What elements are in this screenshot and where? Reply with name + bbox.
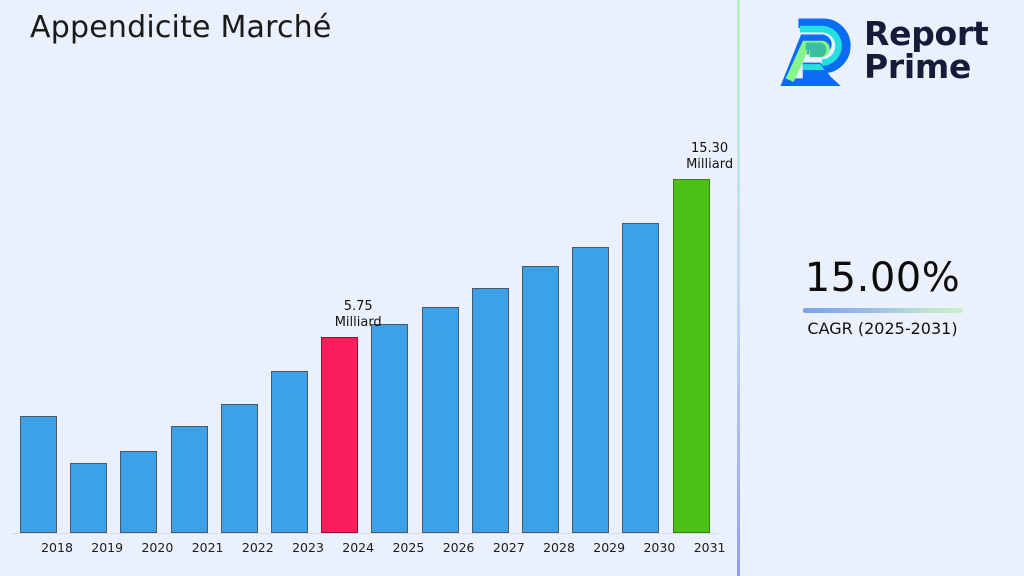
x-axis-line (12, 533, 718, 534)
brand-name-line2: Prime (864, 50, 988, 83)
bar-chart: 2018201920202021202220232024202520262027… (0, 0, 738, 576)
brand-logo: Report Prime (778, 13, 988, 86)
report-prime-r-logo-icon (778, 13, 851, 86)
bar-label-value: 5.75 (303, 299, 413, 315)
bar-label-2024: 5.75Milliard (303, 299, 413, 331)
cagr-block: 15.00% CAGR (2025-2031) (741, 254, 1024, 340)
slide-canvas: Appendicite Marché 201820192020202120222… (0, 0, 1024, 576)
bar-2031[interactable] (673, 179, 710, 533)
bar-2029[interactable] (572, 247, 609, 533)
bar-2020[interactable] (120, 451, 157, 533)
right-panel: Report Prime 15.00% CAGR (2025-2031) (741, 0, 1024, 576)
brand-name-line1: Report (864, 17, 988, 50)
bar-2023[interactable] (271, 371, 308, 533)
cagr-caption: CAGR (2025-2031) (741, 318, 1024, 340)
cagr-value: 15.00% (741, 254, 1024, 302)
brand-name: Report Prime (864, 17, 988, 83)
bar-2027[interactable] (472, 288, 509, 533)
bar-label-unit: Milliard (303, 315, 413, 331)
bar-2028[interactable] (522, 266, 559, 533)
bar-2018[interactable] (20, 416, 57, 533)
bar-2026[interactable] (422, 307, 459, 533)
bar-2025[interactable] (371, 324, 408, 533)
bar-2024[interactable] (321, 337, 358, 533)
bar-2021[interactable] (171, 426, 208, 533)
bar-2022[interactable] (221, 404, 258, 533)
panel-divider (737, 0, 740, 576)
cagr-divider-rule (803, 308, 963, 313)
bar-2030[interactable] (622, 223, 659, 533)
x-tick-2031: 2031 (680, 540, 740, 555)
bar-2019[interactable] (70, 463, 107, 533)
